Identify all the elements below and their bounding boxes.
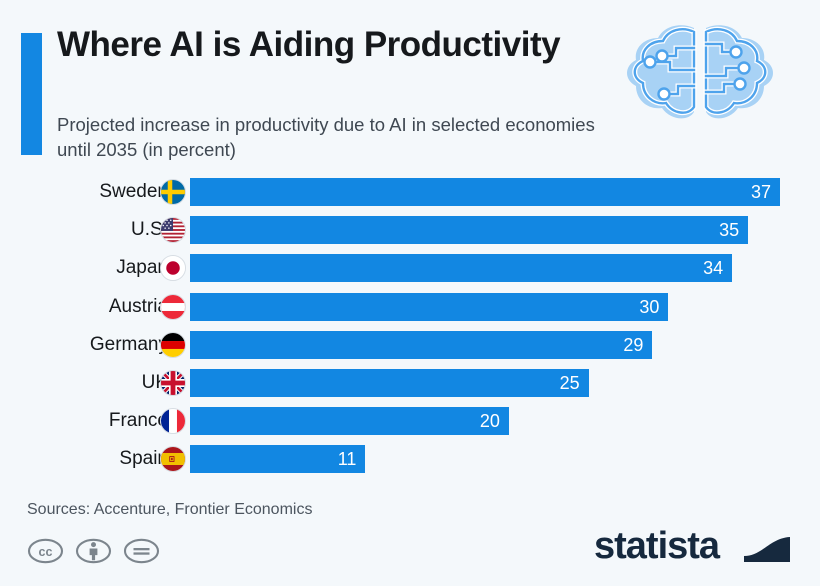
sources-note: Sources: Accenture, Frontier Economics xyxy=(27,501,312,519)
cc-nd-equals-icon[interactable] xyxy=(123,538,160,564)
value-bar: 25 xyxy=(190,369,589,397)
bar-row: Sweden37 xyxy=(0,177,820,207)
page-title: Where AI is Aiding Productivity xyxy=(57,25,597,65)
value-bar: 29 xyxy=(190,331,652,359)
value-bar: 20 xyxy=(190,407,509,435)
sweden-flag-icon xyxy=(160,179,186,205)
bar-value-label: 11 xyxy=(338,445,357,473)
bar-value-label: 30 xyxy=(639,293,659,321)
ai-brain-circuit-icon xyxy=(614,18,786,130)
japan-flag-icon xyxy=(160,255,186,281)
bar-row: Germany29 xyxy=(0,330,820,360)
bar-value-label: 35 xyxy=(719,216,739,244)
bar-row: UK25 xyxy=(0,368,820,398)
spain-flag-icon xyxy=(160,446,186,472)
title-accent-bar xyxy=(21,33,42,155)
usa-flag-icon xyxy=(160,217,186,243)
value-bar: 37 xyxy=(190,178,780,206)
germany-flag-icon xyxy=(160,332,186,358)
value-bar: 30 xyxy=(190,293,668,321)
cc-by-person-icon[interactable] xyxy=(75,538,112,564)
austria-flag-icon xyxy=(160,294,186,320)
bar-value-label: 29 xyxy=(623,331,643,359)
svg-text:cc: cc xyxy=(39,545,53,559)
country-label: Germany xyxy=(90,330,168,360)
value-bar: 11 xyxy=(190,445,365,473)
bar-row: U.S.35 xyxy=(0,215,820,245)
statista-wave-mark xyxy=(744,532,790,562)
cc-icon[interactable]: cc xyxy=(27,538,64,564)
creative-commons-badges: cc xyxy=(27,538,160,564)
statista-wordmark: statista xyxy=(594,526,721,567)
value-bar: 35 xyxy=(190,216,748,244)
uk-flag-icon xyxy=(160,370,186,396)
bar-row: Japan34 xyxy=(0,253,820,283)
page-subtitle: Projected increase in productivity due t… xyxy=(57,113,617,162)
infographic-root: Where AI is Aiding Productivity Projecte… xyxy=(0,0,820,586)
bar-row: Spain11 xyxy=(0,444,820,474)
value-bar: 34 xyxy=(190,254,732,282)
bar-value-label: 25 xyxy=(560,369,580,397)
bar-row: France20 xyxy=(0,406,820,436)
bar-row: Austria30 xyxy=(0,292,820,322)
bar-value-label: 20 xyxy=(480,407,500,435)
bar-value-label: 34 xyxy=(703,254,723,282)
statista-logo[interactable]: statista xyxy=(594,526,790,568)
bar-chart: Sweden37U.S.35Japan34Austria30Germany29U… xyxy=(0,170,820,490)
bar-value-label: 37 xyxy=(751,178,771,206)
country-label: Sweden xyxy=(99,177,168,207)
france-flag-icon xyxy=(160,408,186,434)
